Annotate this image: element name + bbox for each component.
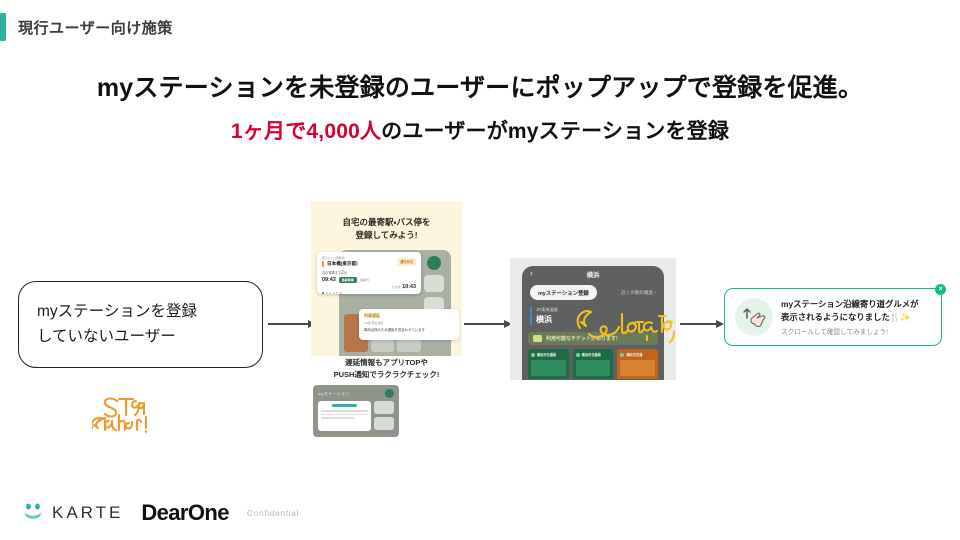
promo-caption: 遅延情報もアプリTOPや PUSH通知でラクラクチェック! xyxy=(311,357,462,381)
start-here-card: myステーション xyxy=(313,385,399,437)
delay-tip-title: 列車遅延 xyxy=(364,313,454,319)
user-segment-line-1: myステーションを登録 xyxy=(37,300,197,324)
ticket-card[interactable]: 横浜市交通 xyxy=(617,349,658,379)
train-next-time: 10:43 xyxy=(402,284,416,290)
headline-block: myステーションを未登録のユーザーにポップアップで登録を促進。 1ヶ月で4,00… xyxy=(0,72,960,145)
page-title: 現行ユーザー向け施策 xyxy=(18,17,173,38)
karte-face-icon xyxy=(22,503,45,523)
ticket-list: 横浜市交通局 横浜市交通局 横浜市交通 xyxy=(528,349,658,379)
karte-logo: KARTE xyxy=(22,503,123,523)
toast-line-1: myステーション沿線寄り道グルメが xyxy=(781,298,931,310)
ticket-label: 横浜市交通局 xyxy=(582,352,601,357)
headline-line-2: 1ヶ月で4,000人のユーザーがmyステーションを登録 xyxy=(0,115,960,145)
promo-title: 自宅の最寄駅・バス停を 登録してみよう! xyxy=(319,216,454,242)
confidential-label: Confidential xyxy=(247,508,299,518)
train-next-row: その次 10:43 xyxy=(322,284,416,290)
promo-caption-line-2: PUSH通知でラクラクチェック! xyxy=(311,369,462,381)
toast-sub: スクロールして確認してみましょう! xyxy=(781,326,931,336)
arrow-right-icon xyxy=(680,319,724,329)
header-accent-bar xyxy=(0,13,6,41)
swipe-up-hand-icon xyxy=(735,298,773,336)
headline-rest: のユーザーがmyステーションを登録 xyxy=(381,120,729,143)
ticket-label: 横浜市交通局 xyxy=(537,352,556,357)
ticket-card[interactable]: 横浜市交通局 xyxy=(528,349,569,379)
toast-line-2: 表示されるようになりました🍴✨ xyxy=(781,311,931,323)
headline-line-1: myステーションを未登録のユーザーにポップアップで登録を促進。 xyxy=(0,72,960,106)
train-minutes-post: 分 xyxy=(344,271,347,275)
sidebar-tile-icon xyxy=(424,275,444,292)
slide-root: 現行ユーザー向け施策 myステーションを未登録のユーザーにポップアップで登録を促… xyxy=(0,0,960,540)
train-status-badge: 運行状況 xyxy=(397,258,416,266)
karte-logo-text: KARTE xyxy=(52,503,123,523)
arrow-right-icon xyxy=(268,319,316,329)
delay-tip-body: 車両点検のため運転を見合わせています xyxy=(364,327,454,332)
user-segment-text: myステーションを登録 していないユーザー xyxy=(37,300,197,348)
lets-tap-script-annotation xyxy=(575,308,675,348)
dark-phone-navbar: ‹ 横浜 xyxy=(522,266,664,283)
chevron-left-icon[interactable]: ‹ xyxy=(530,269,533,278)
sidebar-tile-icon xyxy=(374,401,394,414)
ticket-label: 横浜市交通 xyxy=(626,352,642,357)
start-here-script-annotation xyxy=(92,392,154,438)
slide-header: 現行ユーザー向け施策 xyxy=(0,13,173,41)
avatar-icon xyxy=(427,256,441,270)
close-icon[interactable]: × xyxy=(935,284,946,295)
train-destination: 浅草行 xyxy=(360,278,369,282)
start-card-logo: myステーション xyxy=(318,391,350,397)
train-info-card: 東京メトロ銀座線 日本橋(東京都) 運行状況 次の電車まで2分 09:43 各駅… xyxy=(317,252,421,294)
toast-notification: myステーション沿線寄り道グルメが 表示されるようになりました🍴✨ スクロールし… xyxy=(724,288,942,346)
dark-phone-title: 横浜 xyxy=(587,270,600,279)
ticket-card[interactable]: 横浜市交通局 xyxy=(573,349,614,379)
ticket-icon xyxy=(533,335,542,342)
mystation-register-button[interactable]: myステーション登録 xyxy=(530,285,597,300)
start-card-sidebar xyxy=(374,401,394,433)
train-type-chip: 各駅停車 xyxy=(339,277,357,283)
dearone-logo-text: DearOne xyxy=(141,500,229,526)
train-minutes-row: 次の電車まで2分 xyxy=(322,270,416,276)
promo-title-line-2: 登録してみよう! xyxy=(319,229,454,242)
promo-screenshot-card: 自宅の最寄駅・バス停を 登録してみよう! 東京メトロ銀座線 日本橋(東京都) 運… xyxy=(311,201,462,356)
avatar-icon xyxy=(385,389,394,398)
promo-title-line-1: 自宅の最寄駅・バス停を xyxy=(319,216,454,229)
footer: KARTE DearOne Confidential xyxy=(22,500,299,526)
start-card-panel xyxy=(318,401,371,431)
delay-tip-sub: JR線 現在運転 xyxy=(364,321,454,325)
sidebar-tile-icon xyxy=(374,417,394,430)
nearby-station-link[interactable]: 近くの駅の検索 › xyxy=(621,290,656,296)
arrow-right-icon xyxy=(464,319,512,329)
delay-tip-card: 列車遅延 JR線 現在運転 車両点検のため運転を見合わせています xyxy=(359,309,459,340)
headline-highlight: 1ヶ月で4,000人 xyxy=(231,120,381,143)
carousel-dots[interactable] xyxy=(322,292,416,294)
train-minutes-pre: 次の電車まで xyxy=(322,271,341,275)
train-card-station: 日本橋(東京都) xyxy=(322,261,358,267)
user-segment-box: myステーションを登録 していないユーザー xyxy=(18,281,263,368)
train-departure-row: 09:43 各駅停車 浅草行 xyxy=(322,277,416,283)
train-departure-time: 09:43 xyxy=(322,277,336,283)
train-next-label: その次 xyxy=(392,285,401,289)
train-card-sub: 東京メトロ銀座線 xyxy=(322,256,358,260)
user-segment-line-2: していないユーザー xyxy=(37,325,197,349)
promo-caption-line-1: 遅延情報もアプリTOPや xyxy=(311,357,462,369)
